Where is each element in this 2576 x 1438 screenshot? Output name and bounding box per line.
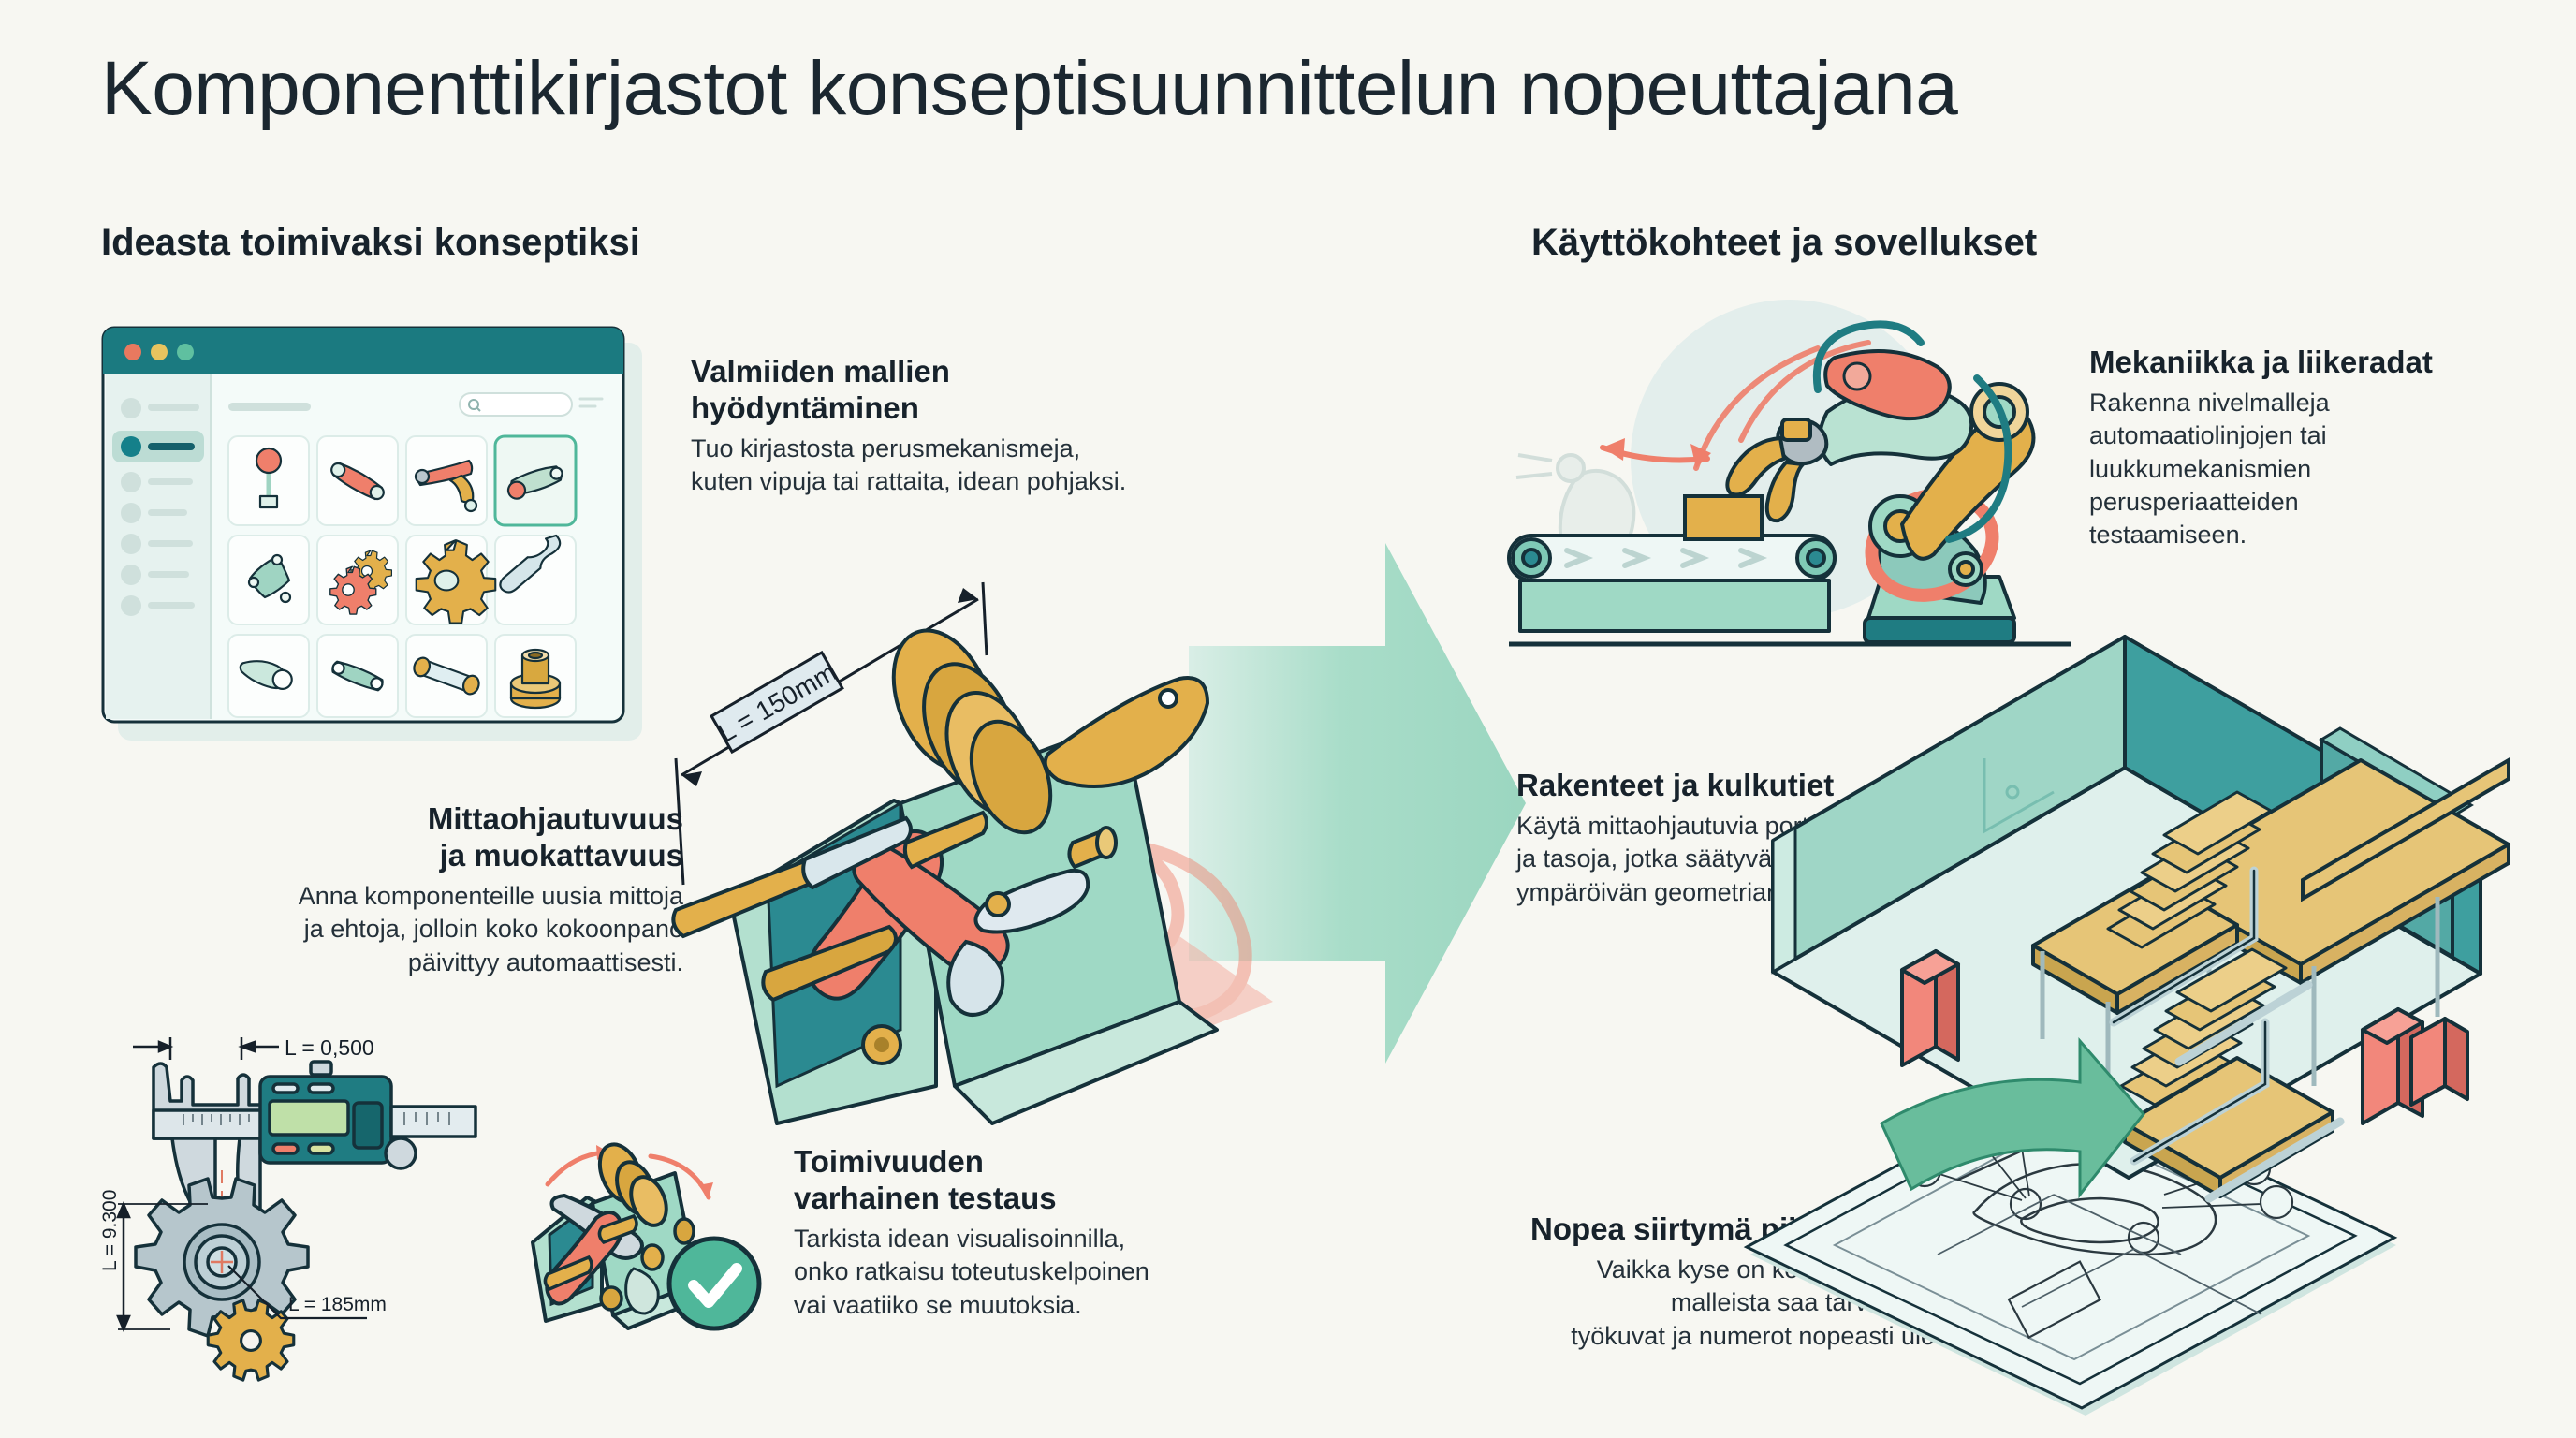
- dimension-label-caliper-vertical: L = 9.300: [99, 1190, 121, 1271]
- block-mekaniikka: Mekaniikka ja liikeradat Rakenna nivelma…: [2089, 345, 2529, 552]
- block-body: Tarkista idean visualisoinnilla, onko ra…: [794, 1223, 1281, 1322]
- block-title: Mekaniikka ja liikeradat: [2089, 345, 2529, 381]
- block-title: Toimivuuden varhainen testaus: [794, 1144, 1281, 1217]
- block-toimivuuden-testaus: Toimivuuden varhainen testaus Tarkista i…: [794, 1144, 1281, 1322]
- block-body: Rakenna nivelmalleja automaatiolinjojen …: [2089, 387, 2529, 552]
- section-heading-left: Ideasta toimivaksi konseptiksi: [101, 222, 640, 264]
- isometric-structure-illustration: [1741, 599, 2509, 1423]
- mechanism-assembly-illustration: L = 150mm: [655, 562, 1404, 1142]
- block-title: Mittaohjautuvuus ja muokattavuus: [150, 801, 683, 874]
- feasibility-test-illustration: [510, 1137, 791, 1348]
- block-valmiiden-mallien: Valmiiden mallien hyödyntäminen Tuo kirj…: [691, 354, 1252, 499]
- block-body: Tuo kirjastosta perusmekanismeja, kuten …: [691, 433, 1252, 499]
- block-mittaohjautuvuus: Mittaohjautuvuus ja muokattavuus Anna ko…: [150, 801, 683, 979]
- page-title: Komponenttikirjastot konseptisuunnittelu…: [101, 45, 1957, 133]
- dimension-label-caliper-top: L = 0,500: [285, 1035, 374, 1060]
- caliper-measurement-illustration: L = 0,500: [86, 1020, 479, 1376]
- component-library-window[interactable]: [101, 326, 625, 724]
- dimension-label-caliper-gear: L = 185mm: [288, 1294, 387, 1315]
- block-body: Anna komponenteille uusia mittoja ja eht…: [150, 880, 683, 979]
- section-heading-right: Käyttökohteet ja sovellukset: [1531, 222, 2037, 264]
- block-title: Valmiiden mallien hyödyntäminen: [691, 354, 1252, 427]
- infographic-poster: Komponenttikirjastot konseptisuunnittelu…: [0, 0, 2576, 1438]
- check-badge: [669, 1239, 759, 1328]
